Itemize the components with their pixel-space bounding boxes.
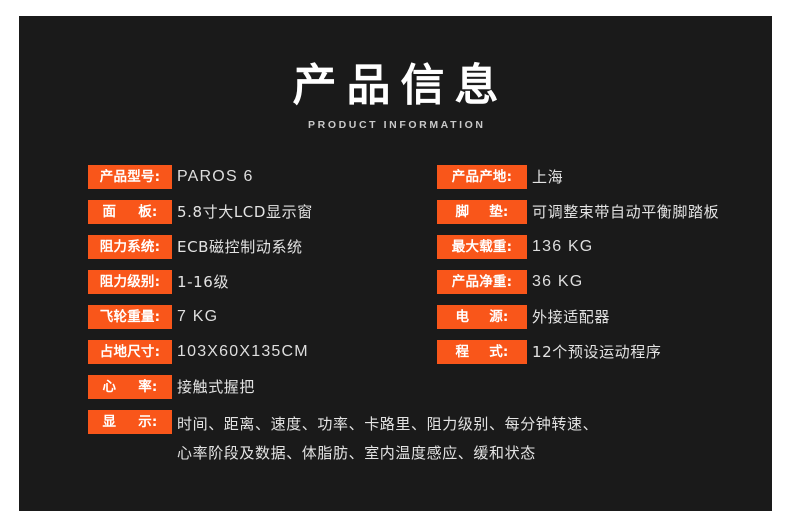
spec-row-max-load: 最大载重:136 KG — [437, 235, 593, 259]
spec-value-heart-rate: 接触式握把 — [177, 375, 255, 399]
spec-row-net-weight: 产品净重:36 KG — [437, 270, 583, 294]
spec-label-programs: 程式: — [437, 340, 527, 364]
dark-panel: 产品信息 PRODUCT INFORMATION 产品型号:PAROS 6 面板… — [19, 16, 772, 511]
spec-row-foot-pad: 脚垫:可调整束带自动平衡脚踏板 — [437, 200, 719, 224]
spec-label-heart-rate: 心率: — [88, 375, 172, 399]
spec-value-programs: 12个预设运动程序 — [532, 340, 662, 364]
spec-value-panel: 5.8寸大LCD显示窗 — [177, 200, 313, 224]
spec-label-origin: 产品产地: — [437, 165, 527, 189]
spec-value-net-weight: 36 KG — [532, 270, 583, 294]
spec-value-foot-pad: 可调整束带自动平衡脚踏板 — [532, 200, 719, 224]
spec-row-resistance-levels: 阻力级别:1-16级 — [88, 270, 229, 294]
spec-row-resistance-system: 阻力系统:ECB磁控制动系统 — [88, 235, 303, 259]
spec-value-display-line2: 心率阶段及数据、体脂肪、室内温度感应、缓和状态 — [177, 439, 707, 468]
spec-label-net-weight: 产品净重: — [437, 270, 527, 294]
spec-label-display: 显示: — [88, 410, 172, 434]
spec-label-power: 电源: — [437, 305, 527, 329]
product-information-page: 产品信息 PRODUCT INFORMATION 产品型号:PAROS 6 面板… — [0, 0, 790, 528]
spec-label-resistance-levels: 阻力级别: — [88, 270, 172, 294]
spec-row-panel: 面板:5.8寸大LCD显示窗 — [88, 200, 313, 224]
spec-row-display: 显示:时间、距离、速度、功率、卡路里、阻力级别、每分钟转速、心率阶段及数据、体脂… — [88, 410, 707, 468]
spec-value-resistance-system: ECB磁控制动系统 — [177, 235, 303, 259]
spec-value-display-line1: 时间、距离、速度、功率、卡路里、阻力级别、每分钟转速、 — [177, 410, 707, 439]
spec-value-flywheel-weight: 7 KG — [177, 305, 218, 329]
spec-row-heart-rate: 心率:接触式握把 — [88, 375, 255, 399]
spec-row-dimensions: 占地尺寸:103X60X135CM — [88, 340, 309, 364]
spec-value-dimensions: 103X60X135CM — [177, 340, 309, 364]
spec-table: 产品型号:PAROS 6 面板:5.8寸大LCD显示窗 阻力系统:ECB磁控制动… — [19, 16, 772, 511]
spec-row-origin: 产品产地:上海 — [437, 165, 563, 189]
spec-row-flywheel-weight: 飞轮重量:7 KG — [88, 305, 218, 329]
spec-value-power: 外接适配器 — [532, 305, 610, 329]
spec-value-display: 时间、距离、速度、功率、卡路里、阻力级别、每分钟转速、心率阶段及数据、体脂肪、室… — [177, 410, 707, 468]
spec-row-programs: 程式:12个预设运动程序 — [437, 340, 662, 364]
spec-value-max-load: 136 KG — [532, 235, 593, 259]
spec-row-power: 电源:外接适配器 — [437, 305, 610, 329]
spec-label-resistance-system: 阻力系统: — [88, 235, 172, 259]
spec-label-flywheel-weight: 飞轮重量: — [88, 305, 172, 329]
spec-label-panel: 面板: — [88, 200, 172, 224]
spec-label-max-load: 最大载重: — [437, 235, 527, 259]
spec-label-model: 产品型号: — [88, 165, 172, 189]
spec-value-model: PAROS 6 — [177, 165, 254, 189]
spec-row-model: 产品型号:PAROS 6 — [88, 165, 254, 189]
spec-label-dimensions: 占地尺寸: — [88, 340, 172, 364]
spec-label-foot-pad: 脚垫: — [437, 200, 527, 224]
spec-value-origin: 上海 — [532, 165, 563, 189]
spec-value-resistance-levels: 1-16级 — [177, 270, 229, 294]
